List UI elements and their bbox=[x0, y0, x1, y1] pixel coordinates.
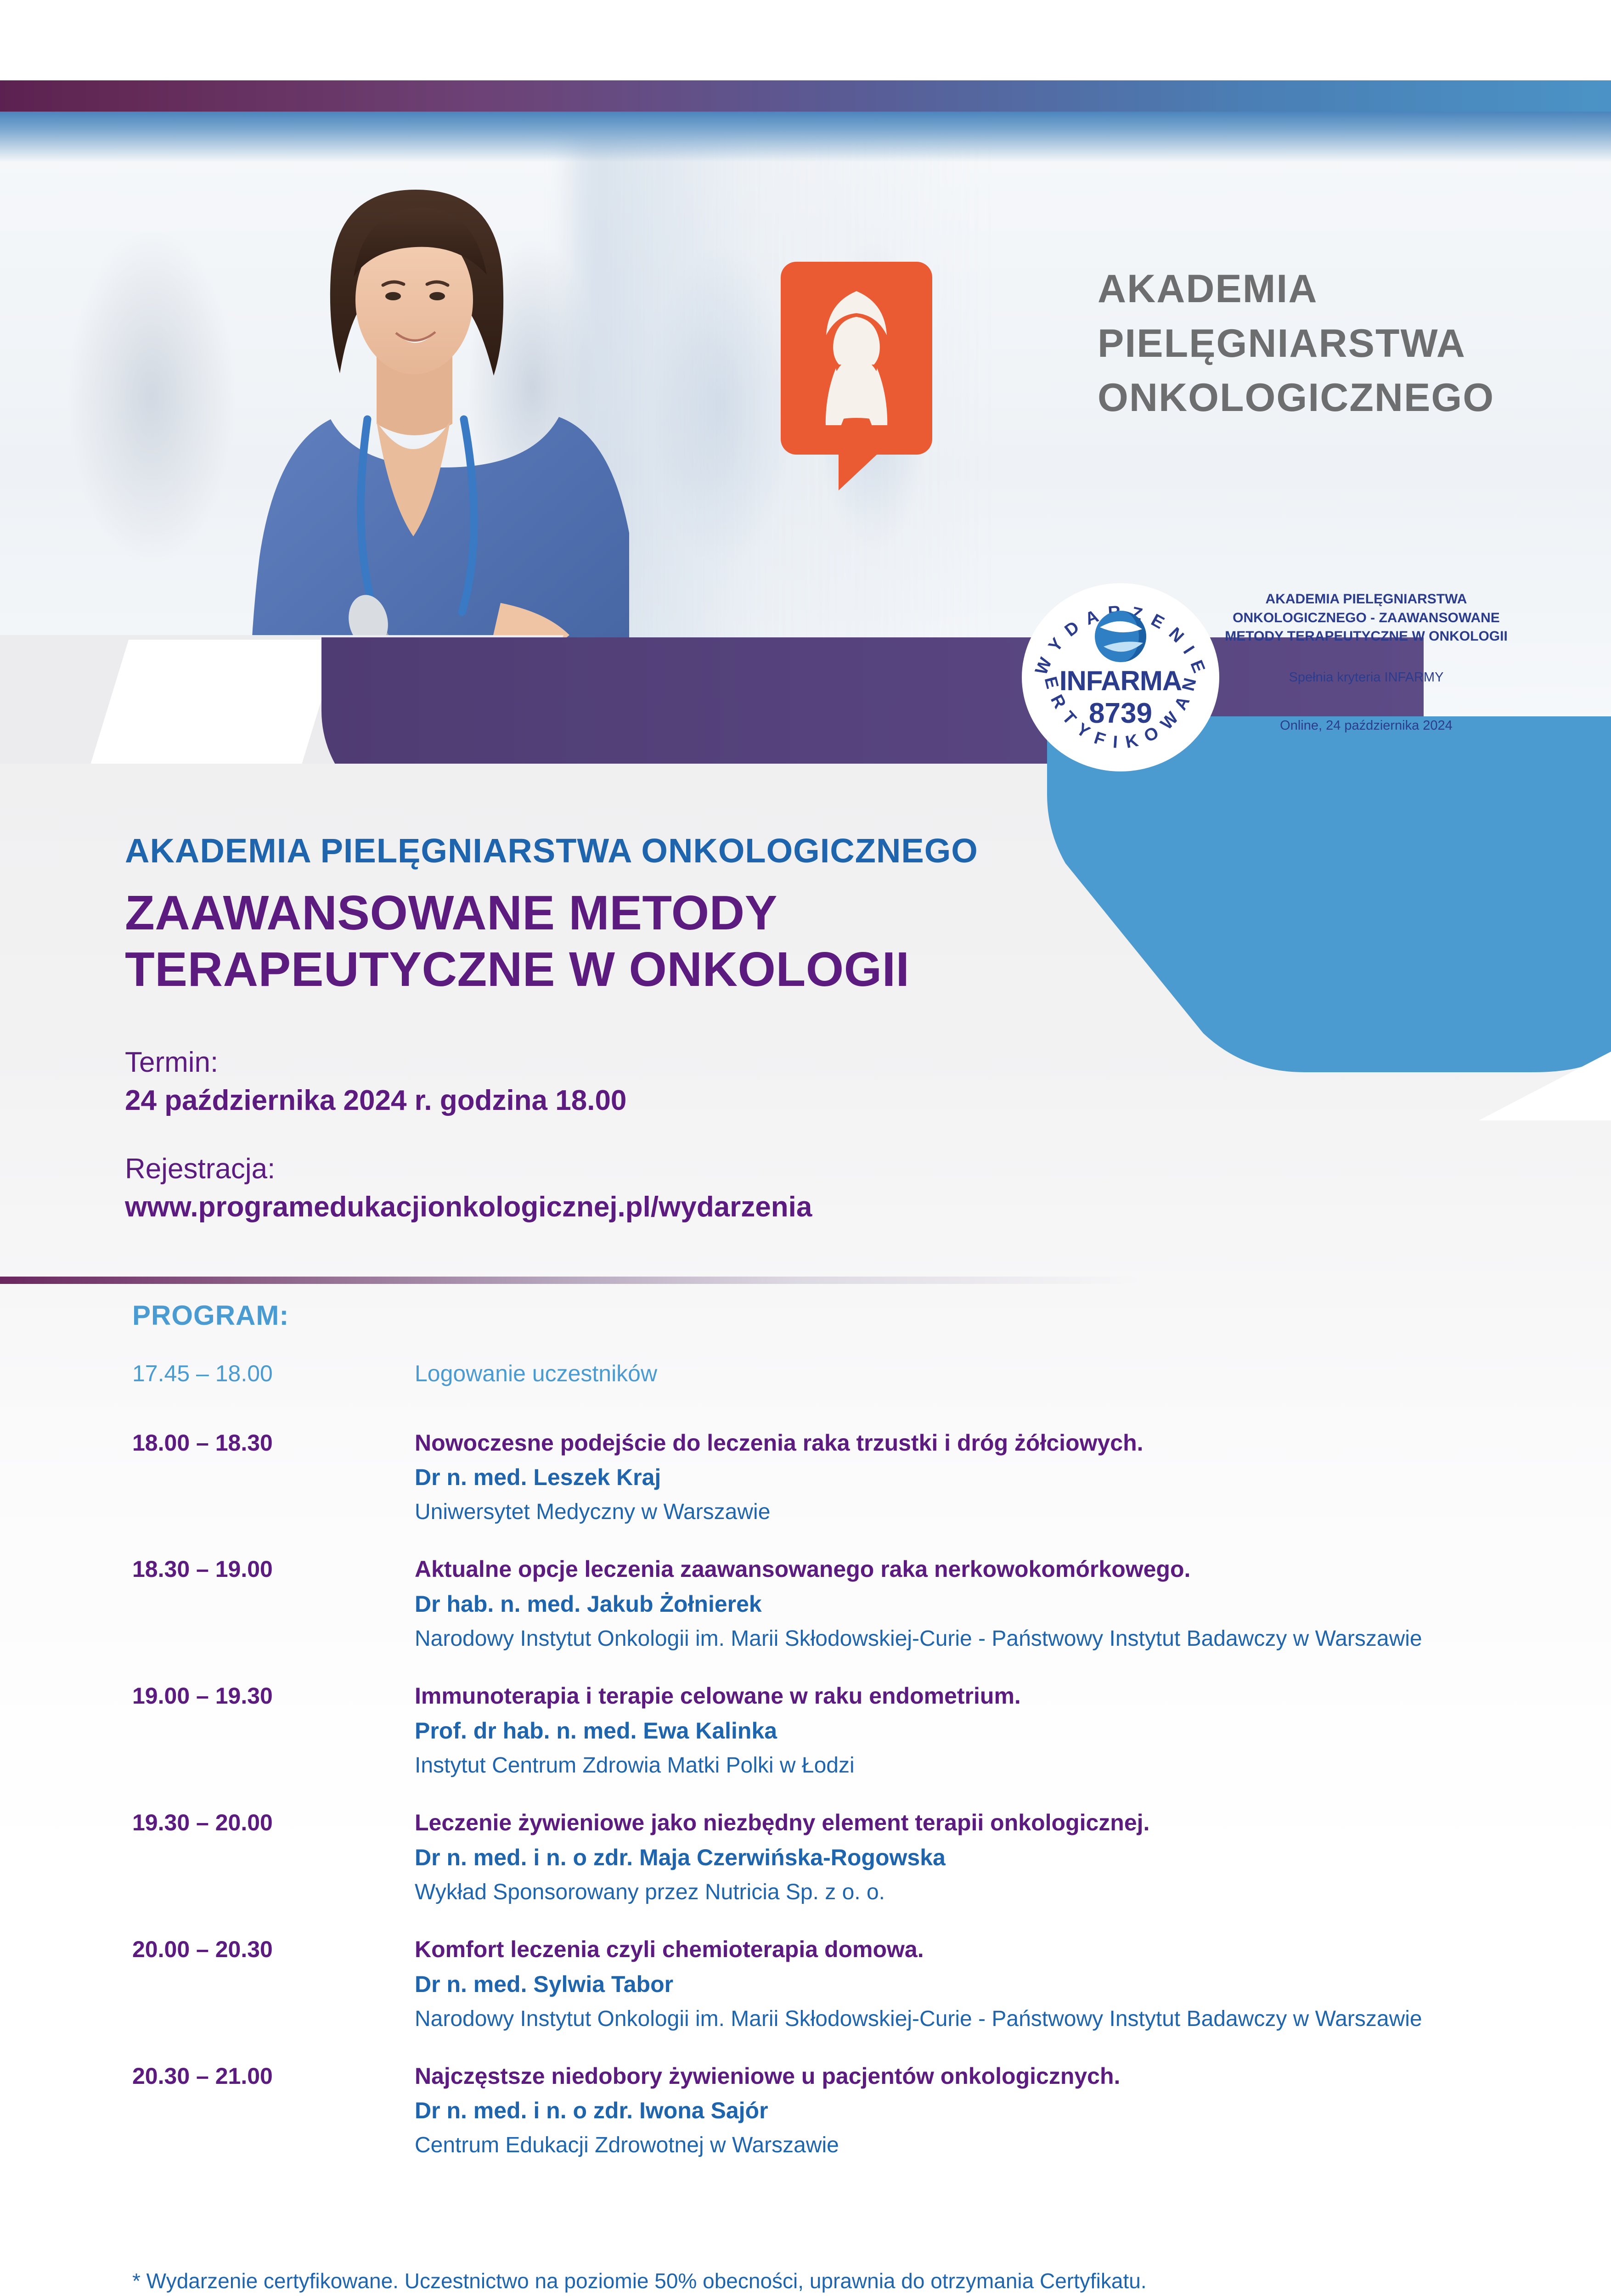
infarma-info-panel: AKADEMIA PIELĘGNIARSTWA ONKOLOGICZNEGO -… bbox=[1212, 590, 1520, 751]
academy-logo-mark bbox=[781, 262, 932, 455]
program-affiliation-4: Instytut Centrum Zdrowia Matki Polki w Ł… bbox=[415, 1751, 1533, 1780]
infarma-brand: INFARMA bbox=[1022, 665, 1219, 697]
top-gradient-bar bbox=[0, 80, 1611, 112]
infarma-panel-title-1: AKADEMIA PIELĘGNIARSTWA bbox=[1212, 590, 1520, 609]
program-speaker-7: Dr n. med. i n. o zdr. Iwona Sajór bbox=[415, 2096, 1533, 2126]
program-title-1: Logowanie uczestników bbox=[415, 1359, 1533, 1388]
event-title-line-2: TERAPEUTYCZNE W ONKOLOGII bbox=[125, 941, 978, 998]
infarma-panel-title-3: METODY TERAPEUTYCZNE W ONKOLOGII bbox=[1212, 627, 1520, 646]
program-affiliation-5: Wykład Sponsorowany przez Nutricia Sp. z… bbox=[415, 1878, 1533, 1907]
event-title-line-1: ZAAWANSOWANE METODY bbox=[125, 885, 978, 941]
program-speaker-4: Prof. dr hab. n. med. Ewa Kalinka bbox=[415, 1716, 1533, 1746]
program-time-1: 17.45 – 18.00 bbox=[132, 1359, 415, 1387]
program-row-6: 20.00 – 20.30 Komfort leczenia czyli che… bbox=[132, 1935, 1533, 2033]
date-value: 24 października 2024 r. godzina 18.00 bbox=[125, 1084, 812, 1117]
title-block: AKADEMIA PIELĘGNIARSTWA ONKOLOGICZNEGO Z… bbox=[125, 831, 978, 998]
logo-line-3: ONKOLOGICZNEGO bbox=[1098, 371, 1494, 425]
infarma-number: 8739 bbox=[1022, 697, 1219, 730]
speech-bubble-tail bbox=[839, 449, 883, 490]
program-title-5: Leczenie żywieniowe jako niezbędny eleme… bbox=[415, 1808, 1533, 1837]
logo-line-1: AKADEMIA bbox=[1098, 262, 1494, 316]
registration-url[interactable]: www.programedukacjionkologicznej.pl/wyda… bbox=[125, 1191, 812, 1223]
program-title-6: Komfort leczenia czyli chemioterapia dom… bbox=[415, 1935, 1533, 1964]
event-kicker: AKADEMIA PIELĘGNIARSTWA ONKOLOGICZNEGO bbox=[125, 831, 978, 870]
program-title-7: Najczęstsze niedobory żywieniowe u pacje… bbox=[415, 2062, 1533, 2091]
logo-line-2: PIELĘGNIARSTWA bbox=[1098, 316, 1494, 371]
infarma-globe-icon bbox=[1090, 607, 1151, 666]
infarma-panel-title-2: ONKOLOGICZNEGO - ZAAWANSOWANE bbox=[1212, 609, 1520, 628]
academy-logo-text: AKADEMIA PIELĘGNIARSTWA ONKOLOGICZNEGO bbox=[1098, 262, 1494, 425]
program-row-3: 18.30 – 19.00 Aktualne opcje leczenia za… bbox=[132, 1555, 1533, 1653]
program-affiliation-2: Uniwersytet Medyczny w Warszawie bbox=[415, 1498, 1533, 1526]
certification-footnote: * Wydarzenie certyfikowane. Uczestnictwo… bbox=[132, 2268, 1147, 2293]
program-time-4: 19.00 – 19.30 bbox=[132, 1682, 415, 1709]
program-time-5: 19.30 – 20.00 bbox=[132, 1808, 415, 1836]
infarma-when: Online, 24 października 2024 bbox=[1212, 718, 1520, 733]
program-row-2: 18.00 – 18.30 Nowoczesne podejście do le… bbox=[132, 1429, 1533, 1527]
program-row-4: 19.00 – 19.30 Immunoterapia i terapie ce… bbox=[132, 1682, 1533, 1780]
section-divider bbox=[0, 1277, 1139, 1284]
program-title-3: Aktualne opcje leczenia zaawansowanego r… bbox=[415, 1555, 1533, 1584]
program-time-3: 18.30 – 19.00 bbox=[132, 1555, 415, 1582]
nurse-silhouette-icon bbox=[807, 287, 906, 425]
program-speaker-6: Dr n. med. Sylwia Tabor bbox=[415, 1970, 1533, 1999]
program-speaker-2: Dr n. med. Leszek Kraj bbox=[415, 1463, 1533, 1492]
program-row-1: 17.45 – 18.00 Logowanie uczestników bbox=[132, 1359, 1533, 1388]
top-gradient-fade bbox=[0, 112, 1611, 162]
program-row-5: 19.30 – 20.00 Leczenie żywieniowe jako n… bbox=[132, 1808, 1533, 1907]
infarma-criteria: Spełnia kryteria INFARMY bbox=[1212, 670, 1520, 685]
program-row-7: 20.30 – 21.00 Najczęstsze niedobory żywi… bbox=[132, 2062, 1533, 2160]
event-meta-block: Termin: 24 października 2024 r. godzina … bbox=[125, 1046, 812, 1223]
infarma-certification-badge: W Y D A R Z E N I E C E R T Y F I K O W … bbox=[1022, 583, 1219, 771]
program-speaker-5: Dr n. med. i n. o zdr. Maja Czerwińska-R… bbox=[415, 1843, 1533, 1873]
registration-label: Rejestracja: bbox=[125, 1153, 812, 1185]
program-affiliation-3: Narodowy Instytut Onkologii im. Marii Sk… bbox=[415, 1625, 1533, 1653]
program-title-4: Immunoterapia i terapie celowane w raku … bbox=[415, 1682, 1533, 1711]
program-list: 17.45 – 18.00 Logowanie uczestników 18.0… bbox=[132, 1359, 1533, 2160]
program-time-6: 20.00 – 20.30 bbox=[132, 1935, 415, 1963]
date-label: Termin: bbox=[125, 1046, 812, 1079]
program-time-2: 18.00 – 18.30 bbox=[132, 1429, 415, 1456]
program-title-2: Nowoczesne podejście do leczenia raka tr… bbox=[415, 1429, 1533, 1458]
program-heading: PROGRAM: bbox=[132, 1300, 289, 1331]
program-affiliation-7: Centrum Edukacji Zdrowotnej w Warszawie bbox=[415, 2131, 1533, 2160]
program-time-7: 20.30 – 21.00 bbox=[132, 2062, 415, 2089]
program-affiliation-6: Narodowy Instytut Onkologii im. Marii Sk… bbox=[415, 2005, 1533, 2033]
program-speaker-3: Dr hab. n. med. Jakub Żołnierek bbox=[415, 1589, 1533, 1619]
